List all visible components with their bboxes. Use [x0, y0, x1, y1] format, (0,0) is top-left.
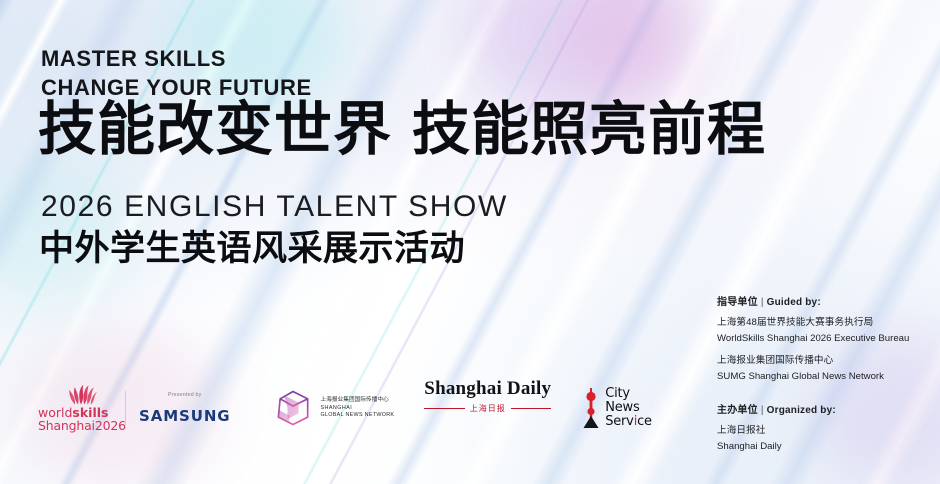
cns-service-part-b: ce — [637, 414, 652, 429]
logo-samsung: Presented by SAMSUNG — [139, 392, 231, 425]
credit-heading-en: Organized by: — [767, 405, 836, 416]
credit-heading: 主办单位|Organized by: — [717, 401, 932, 416]
worldskills-wordmark: worldskills Shanghai2026 — [38, 407, 112, 433]
shanghai-daily-chinese-row: 上海日报 — [424, 403, 551, 414]
credit-group-guided-by: 指导单位|Guided by: 上海第48届世界技能大赛事务执行局 WorldS… — [717, 293, 932, 384]
shanghai-daily-wordmark: Shanghai Daily — [424, 378, 551, 400]
sumg-line-shanghai: SHANGHAI — [321, 405, 395, 412]
logo-shanghai-daily: Shanghai Daily 上海日报 — [424, 378, 551, 438]
headline-part-2: 技能照亮前程 — [412, 95, 766, 163]
presented-by-label: Presented by — [168, 392, 202, 398]
sumg-cube-icon — [271, 386, 315, 430]
credit-heading-cn: 指导单位 — [717, 297, 758, 308]
logo-worldskills-shanghai-2026: worldskills Shanghai2026 Presented by SA… — [38, 378, 231, 438]
rule-right — [511, 408, 551, 410]
sumg-wordmark: 上海报业集团国际传播中心 SHANGHAI GLOBAL NEWS NETWOR… — [321, 397, 395, 418]
subtitle-english: 2026 ENGLISH TALENT SHOW — [41, 192, 508, 222]
headline: 技能改变世界技能照亮前程 — [38, 97, 766, 162]
sumg-line-cn: 上海报业集团国际传播中心 — [321, 397, 395, 404]
credit-entry-en: WorldSkills Shanghai 2026 Executive Bure… — [717, 331, 932, 347]
samsung-wordmark: SAMSUNG — [139, 407, 231, 425]
credit-heading-separator: | — [758, 405, 767, 416]
logo-divider — [125, 391, 126, 425]
credit-heading-en: Guided by: — [767, 297, 821, 308]
credit-group-organized-by: 主办单位|Organized by: 上海日报社 Shanghai Daily — [717, 401, 932, 454]
shanghai-daily-chinese: 上海日报 — [470, 403, 506, 414]
credit-entry-cn: 上海第48届世界技能大赛事务执行局 — [717, 315, 932, 331]
cns-line-city: City — [605, 387, 652, 401]
logo-sumg-shanghai-global-news-network: 上海报业集团国际传播中心 SHANGHAI GLOBAL NEWS NETWOR… — [271, 378, 395, 438]
credit-heading: 指导单位|Guided by: — [717, 293, 932, 308]
credit-entry-en: Shanghai Daily — [717, 439, 932, 455]
subtitle-chinese: 中外学生英语风采展示活动 — [39, 229, 465, 269]
credit-heading-cn: 主办单位 — [717, 405, 758, 416]
tagline: MASTER SKILLS CHANGE YOUR FUTURE — [41, 44, 312, 103]
sponsor-logo-strip: worldskills Shanghai2026 Presented by SA… — [38, 378, 652, 438]
credit-entry-en: SUMG Shanghai Global News Network — [717, 369, 932, 385]
cns-service-part-a: Serv — [605, 414, 634, 429]
event-poster: MASTER SKILLS CHANGE YOUR FUTURE 技能改变世界技… — [0, 0, 940, 484]
tagline-line-1: MASTER SKILLS — [41, 44, 312, 73]
cns-line-news: News — [605, 401, 652, 415]
sumg-line-global-news-network: GLOBAL NEWS NETWORK — [321, 412, 395, 419]
worldskills-flame-icon — [67, 384, 97, 405]
rule-left — [424, 408, 464, 410]
credit-heading-separator: | — [758, 297, 767, 308]
headline-part-1: 技能改变世界 — [38, 95, 392, 163]
credit-entry-cn: 上海报业集团国际传播中心 — [717, 353, 932, 369]
worldskills-shanghai-2026: Shanghai2026 — [38, 420, 112, 433]
oriental-pearl-tower-icon — [581, 386, 601, 430]
cns-line-service: Service — [605, 415, 652, 429]
credits-block: 指导单位|Guided by: 上海第48届世界技能大赛事务执行局 WorldS… — [717, 293, 932, 454]
credit-entry-cn: 上海日报社 — [717, 423, 932, 439]
logo-city-news-service: City News Service — [581, 378, 652, 438]
city-news-service-wordmark: City News Service — [605, 387, 652, 429]
